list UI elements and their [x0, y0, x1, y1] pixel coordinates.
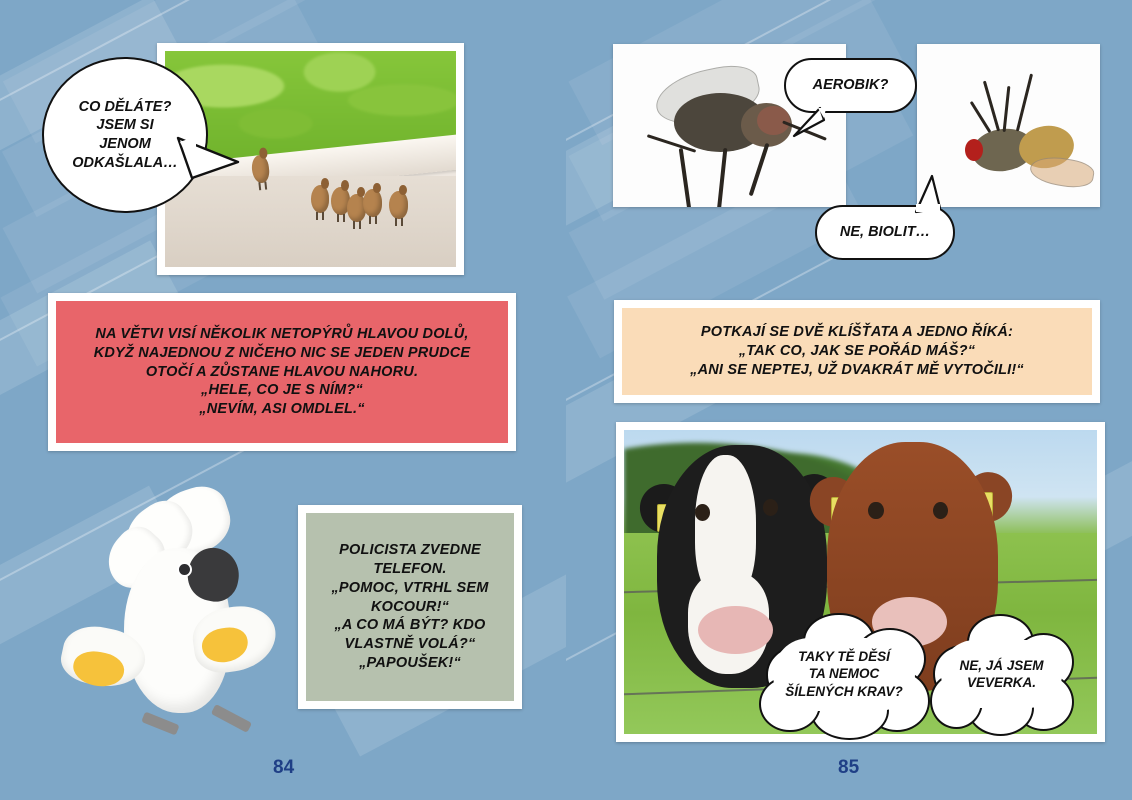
- bat-joke-line: KDYŽ NAJEDNOU Z NIČEHO NIC SE JEDEN PRUD…: [94, 344, 471, 363]
- cow-bubble-two-line: NE, JÁ JSEM: [959, 657, 1043, 675]
- bat-joke-box: NA VĚTVI VISÍ NĚKOLIK NETOPÝRŮ HLAVOU DO…: [48, 293, 516, 451]
- bat-joke-line: NA VĚTVI VISÍ NĚKOLIK NETOPÝRŮ HLAVOU DO…: [95, 325, 468, 344]
- police-joke-line: POLICISTA ZVEDNE: [339, 541, 481, 560]
- tick-joke-fill: POTKAJÍ SE DVĚ KLÍŠŤATA A JEDNO ŘÍKÁ: „T…: [622, 308, 1092, 395]
- bat-joke-fill: NA VĚTVI VISÍ NĚKOLIK NETOPÝRŮ HLAVOU DO…: [56, 301, 508, 443]
- police-joke-box: POLICISTA ZVEDNE TELEFON. „POMOC, VTRHL …: [298, 505, 522, 709]
- police-joke-fill: POLICISTA ZVEDNE TELEFON. „POMOC, VTRHL …: [306, 513, 514, 701]
- page-number-left: 84: [273, 757, 294, 779]
- fly-bubble-one-text: AEROBIK?: [813, 76, 889, 95]
- police-joke-line: TELEFON.: [373, 560, 446, 579]
- bat-joke-line: „NEVÍM, ASI OMDLEL.“: [199, 400, 364, 419]
- duckling: [363, 189, 382, 217]
- tick-joke-line: POTKAJÍ SE DVĚ KLÍŠŤATA A JEDNO ŘÍKÁ:: [701, 323, 1013, 342]
- fly-bubble-two-text: NE, BIOLIT…: [840, 223, 930, 242]
- cockatoo-image: [55, 490, 285, 755]
- tick-joke-line: „TAK CO, JAK SE POŘÁD MÁŠ?“: [739, 342, 975, 361]
- duck-bubble-tail: [176, 132, 246, 192]
- police-joke-line: „A CO MÁ BÝT? KDO: [334, 616, 485, 635]
- page-number-right: 85: [838, 757, 859, 779]
- cow-bubble-two-line: VEVERKA.: [959, 674, 1043, 692]
- fly-bubble-two-tail: [910, 174, 956, 214]
- duckling: [311, 185, 330, 213]
- police-joke-line: „PAPOUŠEK!“: [359, 654, 461, 673]
- tick-joke-box: POTKAJÍ SE DVĚ KLÍŠŤATA A JEDNO ŘÍKÁ: „T…: [614, 300, 1100, 403]
- police-joke-line: KOCOUR!“: [371, 598, 449, 617]
- police-joke-line: VLASTNĚ VOLÁ?“: [345, 635, 476, 654]
- tick-joke-line: „ANI SE NEPTEJ, UŽ DVAKRÁT MĚ VYTOČILI!“: [690, 361, 1024, 380]
- cow-bubble-one-line: ŠÍLENÝCH KRAV?: [785, 683, 903, 701]
- bat-joke-line: OTOČÍ A ZŮSTANE HLAVOU NAHORU.: [146, 363, 418, 382]
- fly-speech-bubble-one: AEROBIK?: [784, 58, 917, 113]
- bat-joke-line: „HELE, CO JE S NÍM?“: [201, 381, 363, 400]
- duckling: [389, 191, 408, 219]
- duck-bubble-text: CO DĚLÁTE? JSEM SI JENOM ODKAŠLALA…: [72, 98, 178, 172]
- cow-speech-bubble-one: TAKY TĚ DĚSÍ TA NEMOC ŠÍLENÝCH KRAV?: [759, 610, 929, 736]
- cow-bubble-one-line: TAKY TĚ DĚSÍ: [785, 648, 903, 666]
- cow-speech-bubble-two: NE, JÁ JSEM VEVERKA.: [930, 614, 1073, 732]
- cow-bubble-one-line: TA NEMOC: [785, 665, 903, 683]
- police-joke-line: „POMOC, VTRHL SEM: [331, 579, 488, 598]
- fly-bubble-one-tail: [790, 106, 834, 142]
